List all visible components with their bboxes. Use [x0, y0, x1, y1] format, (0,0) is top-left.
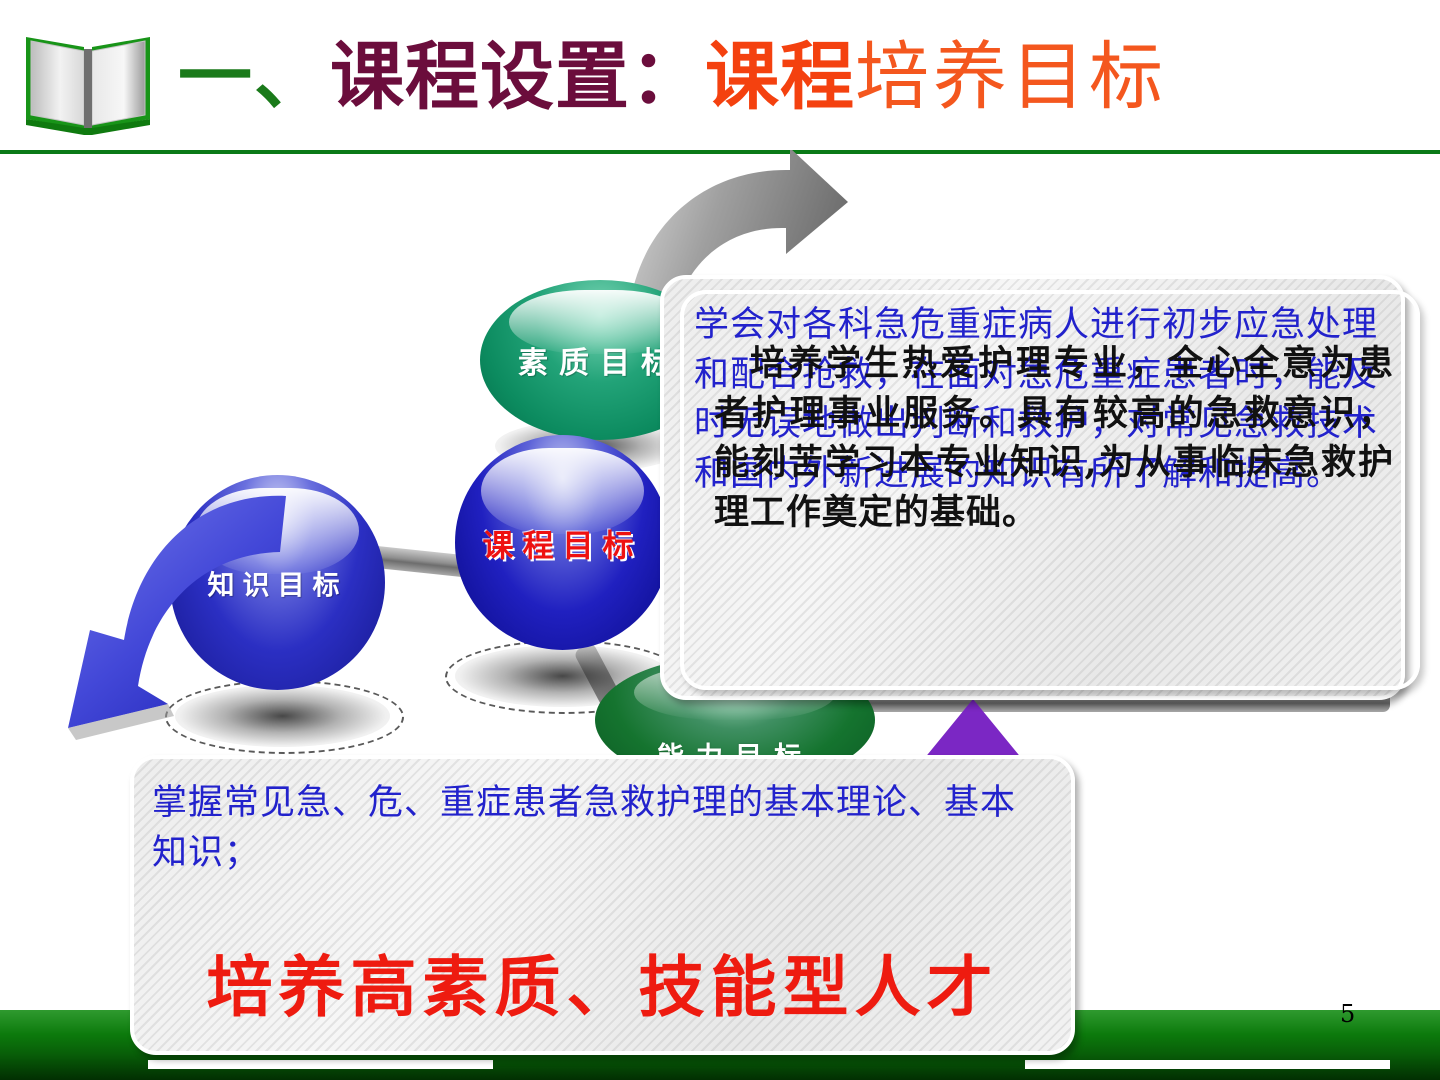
- panel-spirit-goal: 培养学生热爱护理专业，全心全意为患者护理事业服务。具有较高的急救意识，能刻苦学习…: [680, 290, 1420, 690]
- page-number: 5: [1340, 1000, 1355, 1028]
- title-section-number: 一、: [178, 40, 330, 114]
- node-course[interactable]: 课程目标: [455, 435, 670, 650]
- slide-canvas: 一、 课程设置： 课程 培养目标: [0, 0, 1440, 1080]
- title-orange-bold-part: 课程: [705, 40, 855, 114]
- footer-line-left: [148, 1060, 493, 1069]
- title-orange-light-part: 培养目标: [855, 40, 1167, 114]
- page-title: 一、 课程设置： 课程 培养目标: [178, 22, 1167, 132]
- headline-slogan: 培养高素质、技能型人才: [134, 934, 1071, 1030]
- diagram-stage: 素质目标 课程目标 知识目标: [0, 150, 1440, 1010]
- panel-ability-text: 掌握常见急、危、重症患者急救护理的基本理论、基本知识；: [152, 779, 1032, 878]
- node-course-label: 课程目标: [455, 520, 670, 565]
- panel-spirit-text: 培养学生热爱护理专业，全心全意为患者护理事业服务。具有较高的急救意识，能刻苦学习…: [714, 339, 1394, 538]
- panel-ability-goal: 掌握常见急、危、重症患者急救护理的基本理论、基本知识； 培养高素质、技能型人才: [130, 755, 1075, 1055]
- footer-line-right: [1025, 1060, 1390, 1069]
- open-book-icon: [18, 25, 158, 140]
- blue-arrow-icon: [50, 490, 300, 750]
- title-dark-part: 课程设置：: [330, 40, 705, 114]
